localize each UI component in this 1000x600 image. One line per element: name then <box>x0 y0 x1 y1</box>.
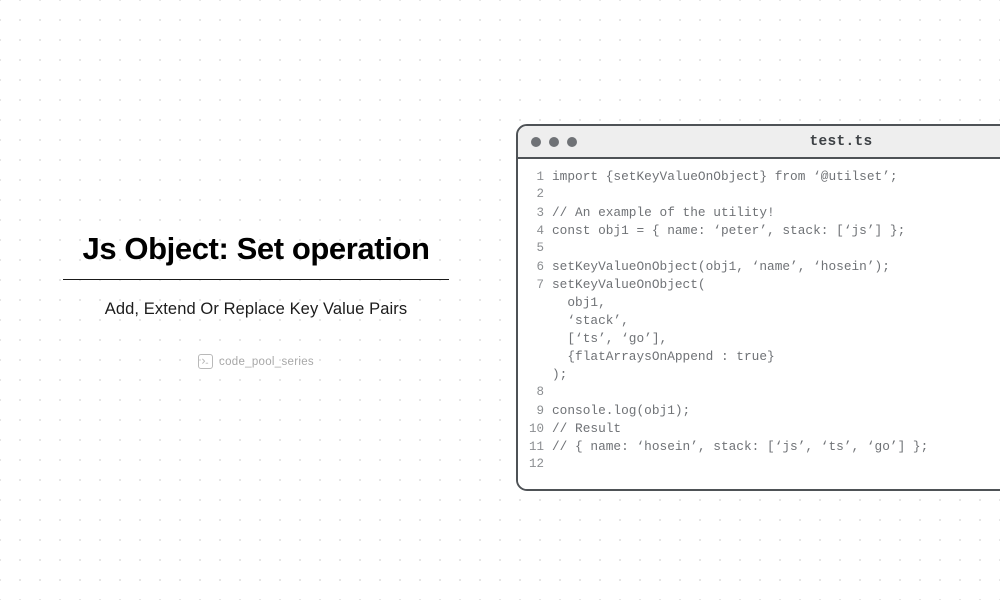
line-number: 3 <box>518 206 552 220</box>
window-filename: test.ts <box>518 134 1000 150</box>
code-line: 12 <box>518 457 1000 475</box>
line-number: 2 <box>518 187 552 201</box>
code-line: 11// { name: ‘hosein’, stack: [‘js’, ‘ts… <box>518 439 1000 457</box>
code-editor-window: test.ts 1import {setKeyValueOnObject} fr… <box>516 124 1000 491</box>
code-text: setKeyValueOnObject(obj1, ‘name’, ‘hosei… <box>552 259 890 274</box>
line-number: 7 <box>518 278 552 292</box>
code-text: import {setKeyValueOnObject} from ‘@util… <box>552 169 898 184</box>
code-content[interactable]: 1import {setKeyValueOnObject} from ‘@uti… <box>518 159 1000 489</box>
traffic-light-group <box>531 137 577 147</box>
code-line: 9console.log(obj1); <box>518 403 1000 421</box>
line-number: 9 <box>518 404 552 418</box>
code-text: obj1, <box>552 295 606 310</box>
close-button[interactable] <box>531 137 541 147</box>
code-line: ); <box>518 367 1000 385</box>
code-line: 2 <box>518 187 1000 205</box>
code-text: // { name: ‘hosein’, stack: [‘js’, ‘ts’,… <box>552 439 928 454</box>
code-line: obj1, <box>518 295 1000 313</box>
page-subtitle: Add, Extend Or Replace Key Value Pairs <box>63 300 449 319</box>
code-line: {flatArraysOnAppend : true} <box>518 349 1000 367</box>
hero-content: Js Object: Set operation Add, Extend Or … <box>63 231 449 370</box>
code-line: [‘ts’, ‘go’], <box>518 331 1000 349</box>
code-line: 7setKeyValueOnObject( <box>518 277 1000 295</box>
code-text: [‘ts’, ‘go’], <box>552 331 667 346</box>
minimize-button[interactable] <box>549 137 559 147</box>
code-text: ‘stack’, <box>552 313 629 328</box>
page-title: Js Object: Set operation <box>63 231 449 268</box>
code-line: 10// Result <box>518 421 1000 439</box>
code-line: 6setKeyValueOnObject(obj1, ‘name’, ‘hose… <box>518 259 1000 277</box>
brand-badge: code_pool_series <box>63 354 449 369</box>
line-number: 5 <box>518 241 552 255</box>
line-number: 11 <box>518 440 552 454</box>
line-number: 4 <box>518 224 552 238</box>
line-number: 8 <box>518 385 552 399</box>
code-text: console.log(obj1); <box>552 403 690 418</box>
code-line: 8 <box>518 385 1000 403</box>
window-filename-text: test.ts <box>809 134 872 150</box>
maximize-button[interactable] <box>567 137 577 147</box>
code-text: {flatArraysOnAppend : true} <box>552 349 775 364</box>
hero-panel: Js Object: Set operation Add, Extend Or … <box>0 0 512 600</box>
code-text: setKeyValueOnObject( <box>552 277 706 292</box>
code-text: // Result <box>552 421 621 436</box>
code-line: 5 <box>518 241 1000 259</box>
code-text: // An example of the utility! <box>552 205 775 220</box>
code-line: ‘stack’, <box>518 313 1000 331</box>
code-line: 4const obj1 = { name: ‘peter’, stack: [‘… <box>518 223 1000 241</box>
line-number: 6 <box>518 260 552 274</box>
code-line: 3// An example of the utility! <box>518 205 1000 223</box>
line-number: 12 <box>518 457 552 471</box>
window-titlebar: test.ts <box>518 126 1000 159</box>
line-number: 1 <box>518 170 552 184</box>
title-divider <box>63 279 449 280</box>
brand-label: code_pool_series <box>219 356 314 368</box>
code-text: const obj1 = { name: ‘peter’, stack: [‘j… <box>552 223 905 238</box>
code-line: 1import {setKeyValueOnObject} from ‘@uti… <box>518 169 1000 187</box>
terminal-prompt-icon <box>198 354 213 369</box>
code-text: ); <box>552 367 567 382</box>
line-number: 10 <box>518 422 552 436</box>
